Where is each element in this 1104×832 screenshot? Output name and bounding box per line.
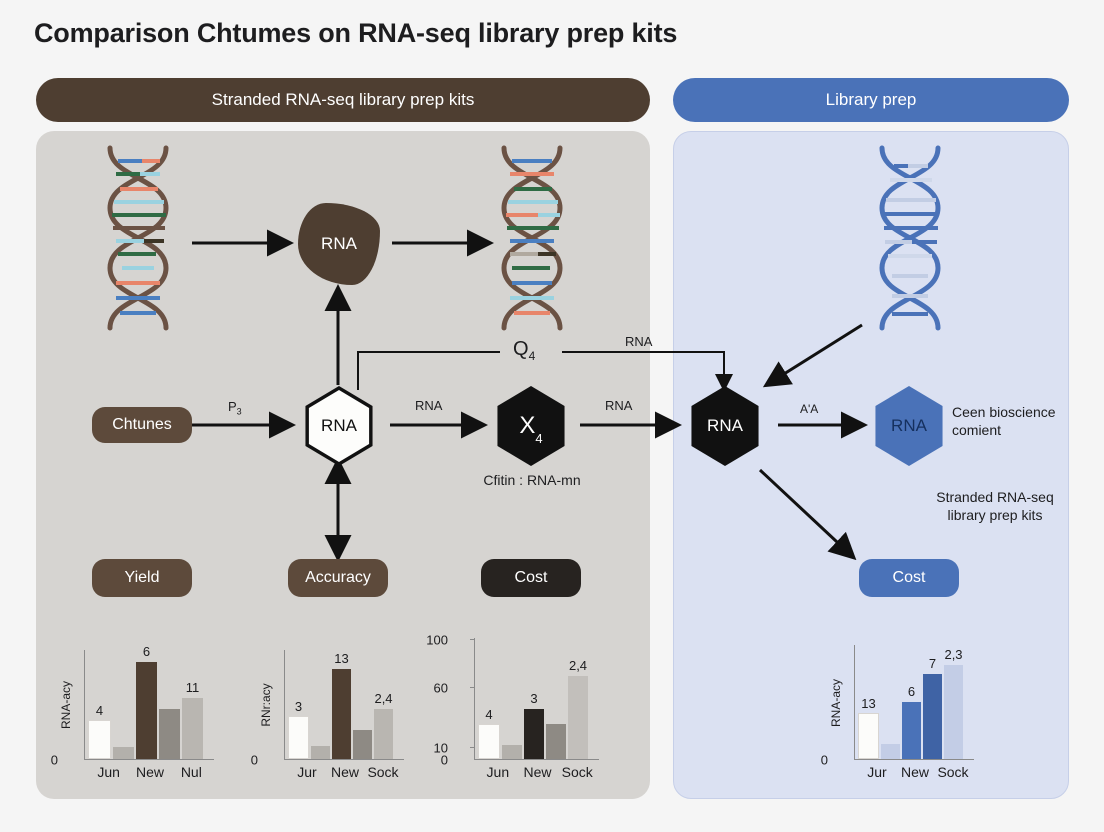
rna-hex-blue-label: RNA <box>891 416 927 436</box>
chart-y-tick: 0 <box>51 753 58 768</box>
edge-label-rna-1: RNA <box>415 398 442 413</box>
chart-bar-value-label: 6 <box>908 684 915 699</box>
chart-y-label: RNA-acy <box>829 678 843 726</box>
edge-label-aa: A'A <box>800 402 818 416</box>
chart-bar <box>311 746 330 759</box>
chart-bars: 3132,4 <box>288 651 402 759</box>
edge-label-rna-top: RNA <box>625 334 652 349</box>
chart-y-tickmark <box>470 747 475 748</box>
chart-x-category: Jur <box>288 764 326 780</box>
chart-bar: 13 <box>332 669 351 759</box>
chart-bar-value-label: 13 <box>334 651 348 666</box>
badge-cost[interactable]: Cost <box>481 559 581 597</box>
chart-bar: 2,4 <box>374 709 393 759</box>
chart-bar: 4 <box>88 720 111 759</box>
chart-y-tick: 0 <box>821 753 828 768</box>
chart-x-categories: JurNewSock <box>288 764 402 780</box>
chart-x-category: New <box>326 764 364 780</box>
chart-bar <box>502 745 522 759</box>
chtunes-pill-node[interactable]: Chtunes <box>92 407 192 443</box>
chart-bar <box>159 709 180 759</box>
chart-x-category: New <box>896 764 934 780</box>
chart-bar-value-label: 13 <box>861 696 875 711</box>
accuracy-chart: 0RNr:acy3132,4JurNewSock <box>258 650 408 760</box>
chart-y-axis <box>474 638 475 760</box>
chart-y-tickmark <box>470 687 475 688</box>
chart-y-label: RNA-acy <box>59 681 73 729</box>
edge-label-rna-2: RNA <box>605 398 632 413</box>
chart-x-category: Sock <box>557 764 597 780</box>
chart-bar-value-label: 6 <box>143 644 150 659</box>
chart-bar-value-label: 3 <box>530 691 537 706</box>
chart-x-axis <box>84 759 214 760</box>
chart-x-category: Jur <box>858 764 896 780</box>
right-note-2: Stranded RNA-seq library prep kits <box>900 488 1090 524</box>
q4-label-sub: 4 <box>529 349 536 363</box>
chart-x-category: Nul <box>171 764 212 780</box>
chart-x-category: New <box>129 764 170 780</box>
right-panel-header: Library prep <box>673 78 1069 122</box>
badge-accuracy-label: Accuracy <box>305 569 371 587</box>
page-title: Comparison Chtumes on RNA-seq library pr… <box>34 18 677 49</box>
chart-x-category: Jun <box>88 764 129 780</box>
chart-bar-value-label: 2,4 <box>569 658 587 673</box>
x4-hex-label: X <box>519 412 535 440</box>
q4-label: Q4 <box>513 338 535 363</box>
chart-bar-value-label: 11 <box>186 680 200 695</box>
badge-cost-label: Cost <box>515 569 548 587</box>
chart-x-category: Jun <box>478 764 518 780</box>
chtunes-pill-label: Chtunes <box>112 416 172 434</box>
chart-bar: 2,3 <box>944 665 963 759</box>
chart-bar: 3 <box>524 709 544 759</box>
chart-y-tick: 100 <box>426 633 448 648</box>
rna-hex-black-label: RNA <box>707 416 743 436</box>
chart-x-categories: JurNewSock <box>858 764 972 780</box>
edge-label-p3: P3 <box>228 399 242 417</box>
badge-cost-right-label: Cost <box>893 569 926 587</box>
rna-hex-white-node[interactable]: RNA <box>300 386 378 466</box>
chart-bar-value-label: 4 <box>96 703 103 718</box>
chart-x-axis <box>284 759 404 760</box>
library-prep-chart: 0RNA-acy13672,3JurNewSock <box>828 645 978 760</box>
chart-bars: 13672,3 <box>858 646 972 759</box>
chart-y-label: RNr:acy <box>259 683 273 726</box>
chart-x-category: Sock <box>934 764 972 780</box>
chart-bar-value-label: 2,3 <box>944 647 962 662</box>
edge-label-p3-main: P <box>228 399 237 414</box>
yield-chart: 0RNA-acy4611JunNewNul <box>58 650 218 760</box>
chart-y-axis <box>284 650 285 760</box>
chart-y-axis <box>84 650 85 760</box>
right-note-1: Ceen bioscience comient <box>952 404 1092 439</box>
badge-accuracy[interactable]: Accuracy <box>288 559 388 597</box>
chart-x-categories: JunNewSock <box>478 764 597 780</box>
chart-bar: 7 <box>923 674 942 759</box>
chart-bar <box>353 730 372 759</box>
chart-bar-value-label: 4 <box>485 707 492 722</box>
chart-x-axis <box>854 759 974 760</box>
x4-caption: Cfitin : RNA-mn <box>462 472 602 488</box>
badge-yield[interactable]: Yield <box>92 559 192 597</box>
badge-cost-right[interactable]: Cost <box>859 559 959 597</box>
rna-hex-white-label: RNA <box>321 416 357 436</box>
chart-bar: 3 <box>288 716 309 759</box>
chart-bar: 4 <box>478 724 500 759</box>
chart-x-category: Sock <box>364 764 402 780</box>
chart-bar: 6 <box>902 702 921 759</box>
chart-bar-value-label: 7 <box>929 656 936 671</box>
chart-bars: 432,4 <box>478 639 597 759</box>
x4-hex-sub: 4 <box>535 431 542 446</box>
badge-yield-label: Yield <box>125 569 160 587</box>
chart-bar <box>113 747 134 759</box>
chart-y-tickmark <box>470 639 475 640</box>
chart-x-axis <box>474 759 599 760</box>
chart-bar-value-label: 2,4 <box>374 691 392 706</box>
chart-y-tick: 10 <box>434 741 448 756</box>
chart-x-category: New <box>518 764 558 780</box>
edge-label-p3-sub: 3 <box>237 407 242 417</box>
left-panel-header: Stranded RNA-seq library prep kits <box>36 78 650 122</box>
chart-y-axis <box>854 645 855 760</box>
rna-blob-label: RNA <box>321 234 357 254</box>
chart-x-categories: JunNewNul <box>88 764 212 780</box>
chart-bar: 11 <box>182 698 203 759</box>
chart-bar-value-label: 3 <box>295 699 302 714</box>
chart-bars: 4611 <box>88 651 212 759</box>
chart-bar <box>546 724 566 759</box>
cost-chart: 01060100432,4JunNewSock <box>448 638 603 760</box>
chart-y-tick: 0 <box>251 753 258 768</box>
chart-y-tick: 60 <box>434 681 448 696</box>
chart-bar: 6 <box>136 662 157 759</box>
q4-label-main: Q <box>513 338 529 360</box>
chart-bar: 13 <box>858 713 879 759</box>
chart-bar: 2,4 <box>568 676 588 759</box>
chart-bar <box>881 744 900 759</box>
